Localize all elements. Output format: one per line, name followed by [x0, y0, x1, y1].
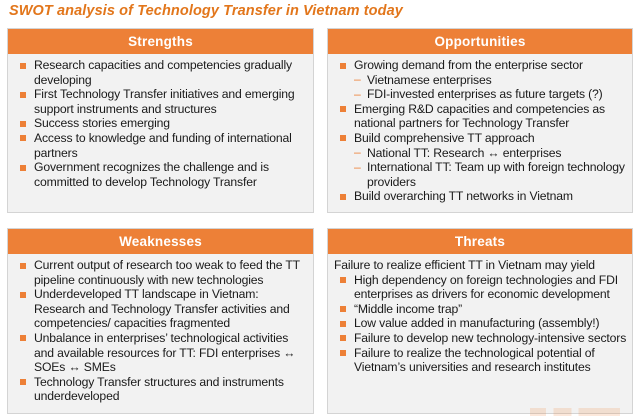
dash-icon: –: [354, 72, 361, 87]
bullet-square-icon: [340, 135, 346, 141]
list-item-text: Research capacities and competencies gra…: [34, 58, 292, 87]
list-item-text: Access to knowledge and funding of inter…: [34, 131, 292, 160]
bullet-square-icon: [20, 135, 26, 141]
bullet-square-icon: [340, 277, 346, 283]
list-item: Failure to realize the technological pot…: [331, 346, 629, 375]
list-item: Success stories emerging: [11, 116, 310, 131]
bullet-square-icon: [20, 379, 26, 385]
quadrant-opportunities-header: Opportunities: [328, 29, 632, 54]
quadrant-strengths-header: Strengths: [8, 29, 313, 54]
list-item: Current output of research too weak to f…: [11, 258, 310, 287]
sub-list: – Vietnamese enterprises – FDI-invested …: [354, 73, 629, 102]
quadrant-opportunities: Opportunities Growing demand from the en…: [327, 28, 633, 213]
bullet-square-icon: [340, 306, 346, 312]
quadrant-weaknesses-body: Current output of research too weak to f…: [8, 254, 313, 404]
list-item-text: Emerging R&D capacities and competencies…: [354, 102, 605, 131]
weaknesses-list: Current output of research too weak to f…: [11, 258, 310, 404]
list-item: Government recognizes the challenge and …: [11, 160, 310, 189]
list-item-text: Current output of research too weak to f…: [34, 258, 300, 287]
quadrant-strengths: Strengths Research capacities and compet…: [7, 28, 314, 213]
bullet-square-icon: [20, 263, 26, 269]
bullet-square-icon: [20, 335, 26, 341]
threats-intro-text: Failure to realize efficient TT in Vietn…: [331, 258, 629, 273]
quadrant-weaknesses-header: Weaknesses: [8, 229, 313, 254]
swot-grid: Strengths Research capacities and compet…: [0, 28, 640, 416]
bullet-square-icon: [340, 335, 346, 341]
quadrant-threats-header: Threats: [328, 229, 632, 254]
bullet-square-icon: [340, 106, 346, 112]
sub-list-item-text: National TT: Research ↔ enterprises: [367, 146, 561, 160]
list-item-text: Success stories emerging: [34, 116, 170, 130]
strengths-list: Research capacities and competencies gra…: [11, 58, 310, 189]
list-item-text: Failure to realize the technological pot…: [354, 346, 595, 375]
list-item: Growing demand from the enterprise secto…: [331, 58, 629, 102]
sub-list-item-text: International TT: Team up with foreign t…: [367, 160, 625, 189]
list-item: High dependency on foreign technologies …: [331, 273, 629, 302]
list-item-text: “Middle income trap”: [354, 302, 462, 316]
sub-list-item-text: FDI-invested enterprises as future targe…: [367, 87, 603, 101]
list-item: First Technology Transfer initiatives an…: [11, 87, 310, 116]
list-item: Unbalance in enterprises’ technological …: [11, 331, 310, 375]
list-item-text: Underdeveloped TT landscape in Vietnam: …: [34, 287, 290, 330]
footer-watermark: [530, 408, 620, 416]
page-title: SWOT analysis of Technology Transfer in …: [9, 3, 403, 19]
list-item-text: First Technology Transfer initiatives an…: [34, 87, 295, 116]
list-item: Emerging R&D capacities and competencies…: [331, 102, 629, 131]
bullet-square-icon: [340, 194, 346, 200]
bullet-square-icon: [20, 165, 26, 171]
list-item-text: Unbalance in enterprises’ technological …: [34, 331, 295, 374]
list-item-text: Failure to develop new technology-intens…: [354, 331, 626, 345]
quadrant-threats-body: Failure to realize efficient TT in Vietn…: [328, 254, 632, 375]
dash-icon: –: [354, 145, 361, 160]
quadrant-strengths-body: Research capacities and competencies gra…: [8, 54, 313, 189]
list-item: Build overarching TT networks in Vietnam: [331, 189, 629, 204]
bullet-square-icon: [20, 292, 26, 298]
list-item-text: Government recognizes the challenge and …: [34, 160, 269, 189]
bullet-square-icon: [340, 63, 346, 69]
list-item: Underdeveloped TT landscape in Vietnam: …: [11, 287, 310, 331]
sub-list-item-text: Vietnamese enterprises: [367, 73, 492, 87]
dash-icon: –: [354, 160, 361, 175]
bullet-square-icon: [340, 321, 346, 327]
list-item-text: Low value added in manufacturing (assemb…: [354, 316, 599, 330]
list-item: Build comprehensive TT approach – Nation…: [331, 131, 629, 189]
list-item-text: Build overarching TT networks in Vietnam: [354, 189, 573, 203]
bullet-square-icon: [340, 350, 346, 356]
list-item-text: High dependency on foreign technologies …: [354, 273, 618, 302]
threats-list: High dependency on foreign technologies …: [331, 273, 629, 375]
list-item: Technology Transfer structures and instr…: [11, 375, 310, 404]
sub-list-item: – National TT: Research ↔ enterprises: [354, 146, 629, 161]
list-item-text: Build comprehensive TT approach: [354, 131, 535, 145]
quadrant-threats: Threats Failure to realize efficient TT …: [327, 228, 633, 414]
bullet-square-icon: [20, 92, 26, 98]
quadrant-opportunities-body: Growing demand from the enterprise secto…: [328, 54, 632, 204]
sub-list-item: – FDI-invested enterprises as future tar…: [354, 87, 629, 102]
bullet-square-icon: [20, 121, 26, 127]
quadrant-weaknesses: Weaknesses Current output of research to…: [7, 228, 314, 414]
list-item: Access to knowledge and funding of inter…: [11, 131, 310, 160]
list-item: Low value added in manufacturing (assemb…: [331, 316, 629, 331]
list-item: Research capacities and competencies gra…: [11, 58, 310, 87]
bullet-square-icon: [20, 63, 26, 69]
list-item: Failure to develop new technology-intens…: [331, 331, 629, 346]
sub-list: – National TT: Research ↔ enterprises – …: [354, 146, 629, 190]
sub-list-item: – International TT: Team up with foreign…: [354, 160, 629, 189]
sub-list-item: – Vietnamese enterprises: [354, 73, 629, 88]
list-item-text: Growing demand from the enterprise secto…: [354, 58, 583, 72]
opportunities-list: Growing demand from the enterprise secto…: [331, 58, 629, 204]
dash-icon: –: [354, 87, 361, 102]
list-item: “Middle income trap”: [331, 302, 629, 317]
list-item-text: Technology Transfer structures and instr…: [34, 375, 284, 404]
